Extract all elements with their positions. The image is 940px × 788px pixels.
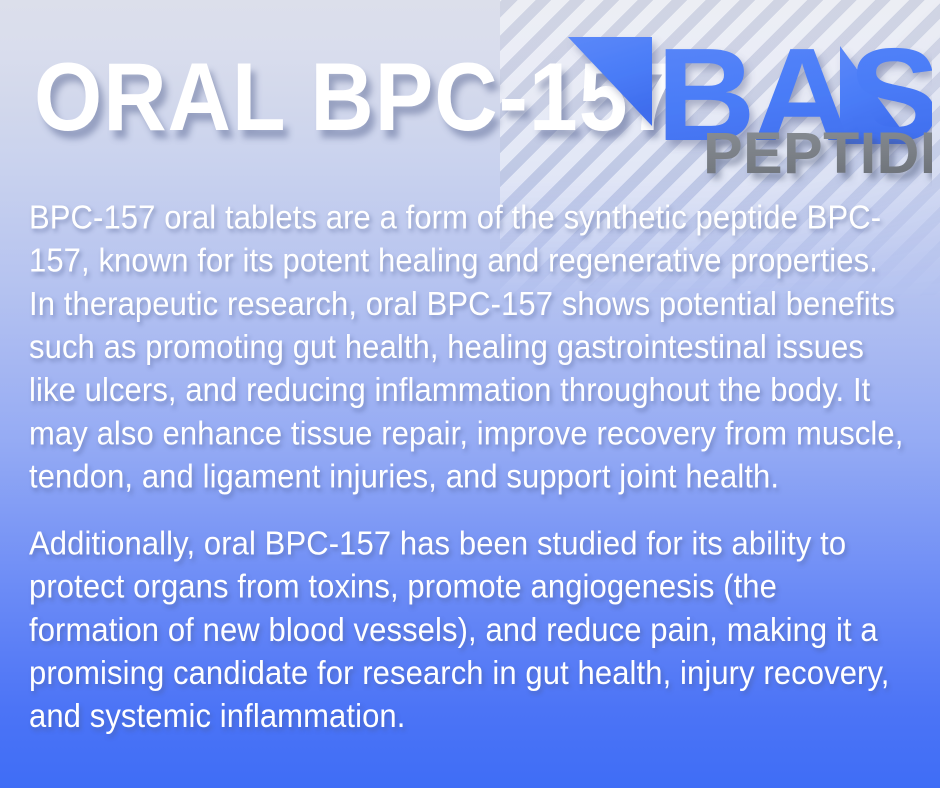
brand-logo: BASE PEPTIDES [540, 8, 932, 188]
logo-peptides-text: PEPTIDES [703, 122, 932, 186]
logo-peptides-group: PEPTIDES [703, 122, 932, 186]
paragraph-1: BPC-157 oral tablets are a form of the s… [29, 196, 909, 498]
infographic-card: ORAL BPC-157 [0, 0, 940, 788]
left-triangle-icon [568, 37, 652, 126]
paragraph-2: Additionally, oral BPC-157 has been stud… [29, 522, 909, 738]
body-copy: BPC-157 oral tablets are a form of the s… [29, 196, 909, 722]
